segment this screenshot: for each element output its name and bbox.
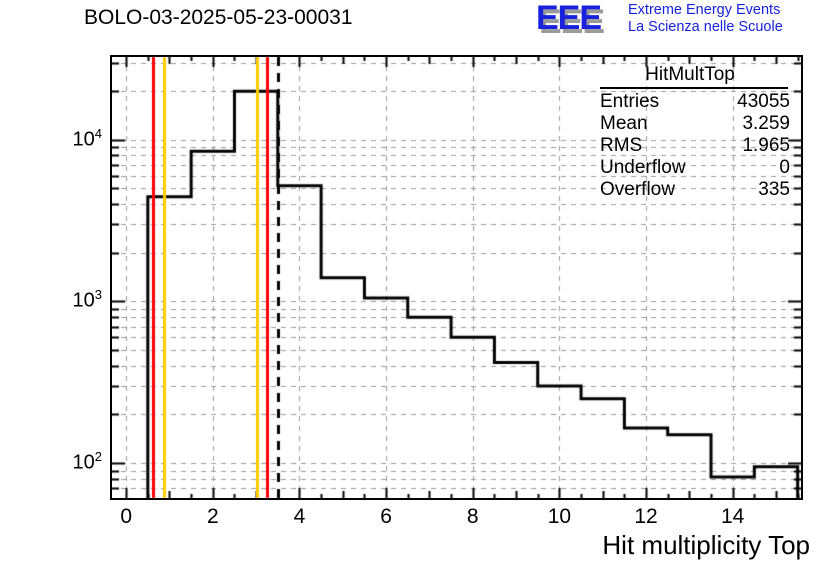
stats-key-mean: Mean [600,113,648,135]
stats-row-overflow: Overflow 335 [584,179,796,201]
stats-key-rms: RMS [600,135,642,157]
y-tick-label: 102 [0,449,102,475]
stats-key-entries: Entries [600,91,659,113]
stats-key-underflow: Underflow [600,157,686,179]
stats-box: HitMultTop Entries 43055 Mean 3.259 RMS … [584,64,796,201]
x-tick-label: 2 [188,505,238,529]
stats-value-underflow: 0 [779,157,790,179]
x-tick-label: 10 [534,505,584,529]
y-tick-label: 104 [0,126,102,152]
stats-row-underflow: Underflow 0 [584,157,796,179]
x-tick-label: 8 [448,505,498,529]
x-tick-label: 4 [274,505,324,529]
x-tick-label: 14 [708,505,758,529]
stats-key-overflow: Overflow [600,179,675,201]
stats-value-entries: 43055 [737,91,790,113]
stats-value-rms: 1.965 [742,135,790,157]
y-tick-label: 103 [0,287,102,313]
stats-row-entries: Entries 43055 [584,91,796,113]
stats-title: HitMultTop [584,64,796,87]
stats-value-mean: 3.259 [742,113,790,135]
x-tick-label: 0 [101,505,151,529]
x-tick-label: 12 [621,505,671,529]
x-axis-title: Hit multiplicity Top [602,530,810,561]
stats-row-mean: Mean 3.259 [584,113,796,135]
stats-value-overflow: 335 [758,179,790,201]
stats-row-rms: RMS 1.965 [584,135,796,157]
x-tick-label: 6 [361,505,411,529]
stats-divider [600,87,788,89]
